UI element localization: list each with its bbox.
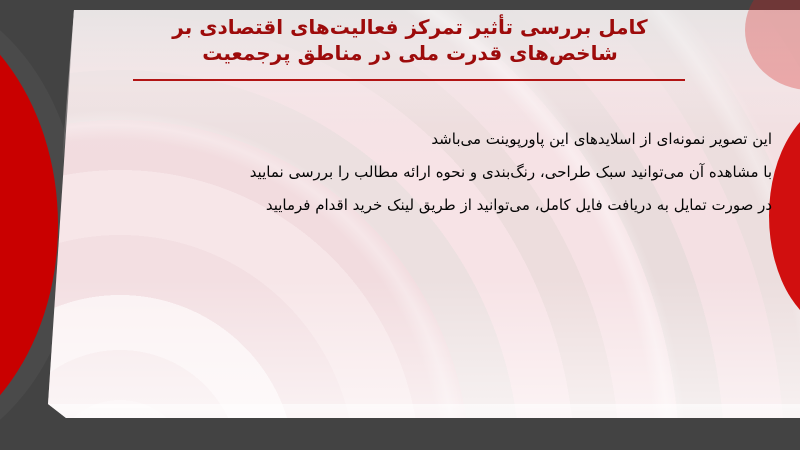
body-line-1: این تصویر نمونه‌ای از اسلایدهای این پاور… <box>100 123 772 156</box>
slide-title-line-2: شاخص‌های قدرت ملی در مناطق پرجمعیت <box>90 40 730 66</box>
body-line-2: با مشاهده آن می‌توانید سبک طراحی، رنگ‌بن… <box>100 156 772 189</box>
slide-content-plate <box>0 0 800 450</box>
slide-title: کامل بررسی تأثیر تمرکز فعالیت‌های اقتصاد… <box>90 14 730 66</box>
body-line-3: در صورت تمایل به دریافت فایل کامل، می‌تو… <box>100 189 772 222</box>
presentation-slide: کامل بررسی تأثیر تمرکز فعالیت‌های اقتصاد… <box>0 0 800 450</box>
slide-title-line-1: کامل بررسی تأثیر تمرکز فعالیت‌های اقتصاد… <box>90 14 730 40</box>
slide-body-text: این تصویر نمونه‌ای از اسلایدهای این پاور… <box>100 123 772 222</box>
title-underline-rule <box>133 79 685 81</box>
